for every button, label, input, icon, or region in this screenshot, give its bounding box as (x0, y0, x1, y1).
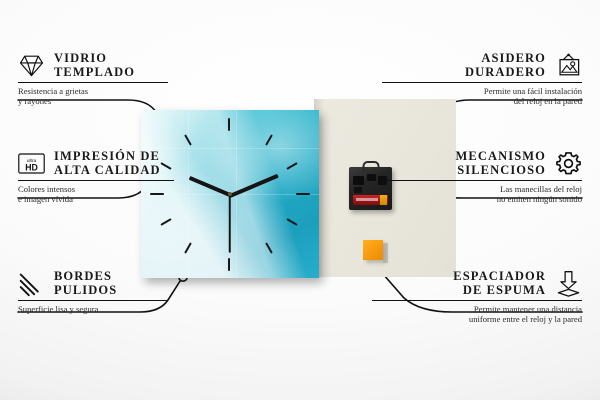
feature-vidrio-templado: VIDRIOTEMPLADO Resistencia a grietas y r… (18, 52, 188, 106)
feature-description: Colores intensos e imagen vívida (18, 184, 196, 204)
feature-rule (382, 82, 582, 83)
infographic-canvas: VIDRIOTEMPLADO Resistencia a grietas y r… (0, 0, 600, 400)
spacer-arrow-icon (555, 270, 582, 297)
clock-second-hand (229, 195, 231, 253)
feature-rule (18, 300, 168, 301)
feature-description: Resistencia a grietas y rayones (18, 86, 188, 106)
feature-rule (18, 82, 168, 83)
feature-title: ASIDERODURADERO (465, 52, 546, 79)
ultra-hd-icon: ultra HD (18, 150, 45, 177)
feature-mecanismo-silencioso: MECANISMOSILENCIOSO Las manecillas del r… (382, 150, 582, 204)
feature-espaciador-de-espuma: ESPACIADORDE ESPUMA Permite mantener una… (372, 270, 582, 324)
feature-rule (372, 300, 582, 301)
feature-title: IMPRESIÓN DEALTA CALIDAD (54, 150, 161, 177)
feature-title: MECANISMOSILENCIOSO (456, 150, 546, 177)
polished-edges-icon (18, 270, 45, 297)
feature-asidero-duradero: ASIDERODURADERO Permite una fácil instal… (382, 52, 582, 106)
clock-tick (228, 118, 230, 131)
clock-hand-hub (228, 192, 232, 196)
feature-description: Superficie lisa y segura (18, 304, 188, 314)
gear-icon (555, 150, 582, 177)
print-seam (141, 148, 319, 149)
clock-tick (228, 258, 230, 271)
feature-title: BORDESPULIDOS (54, 270, 117, 297)
feature-bordes-pulidos: BORDESPULIDOS Superficie lisa y segura (18, 270, 188, 314)
mechanism-detail (367, 174, 376, 181)
feature-rule (382, 180, 582, 181)
clock-tick (296, 193, 310, 195)
mechanism-detail (353, 176, 364, 185)
hanging-frame-icon (555, 52, 582, 79)
feature-title: VIDRIOTEMPLADO (54, 52, 135, 79)
svg-text:HD: HD (25, 163, 38, 173)
mechanism-detail (354, 187, 362, 193)
feature-description: Permite mantener una distancia uniforme … (372, 304, 582, 324)
foam-spacer (363, 240, 383, 260)
battery-label (356, 198, 378, 201)
mechanism-hanging-hook (362, 161, 379, 171)
foam-spacer-side (383, 243, 388, 263)
feature-title: ESPACIADORDE ESPUMA (453, 270, 546, 297)
feature-description: Permite una fácil instalación del reloj … (382, 86, 582, 106)
feature-rule (18, 180, 174, 181)
diamond-icon (18, 52, 45, 79)
feature-description: Las manecillas del reloj no emiten ningú… (382, 184, 582, 204)
feature-impresion-alta-calidad: ultra HD IMPRESIÓN DEALTA CALIDAD Colore… (18, 150, 196, 204)
